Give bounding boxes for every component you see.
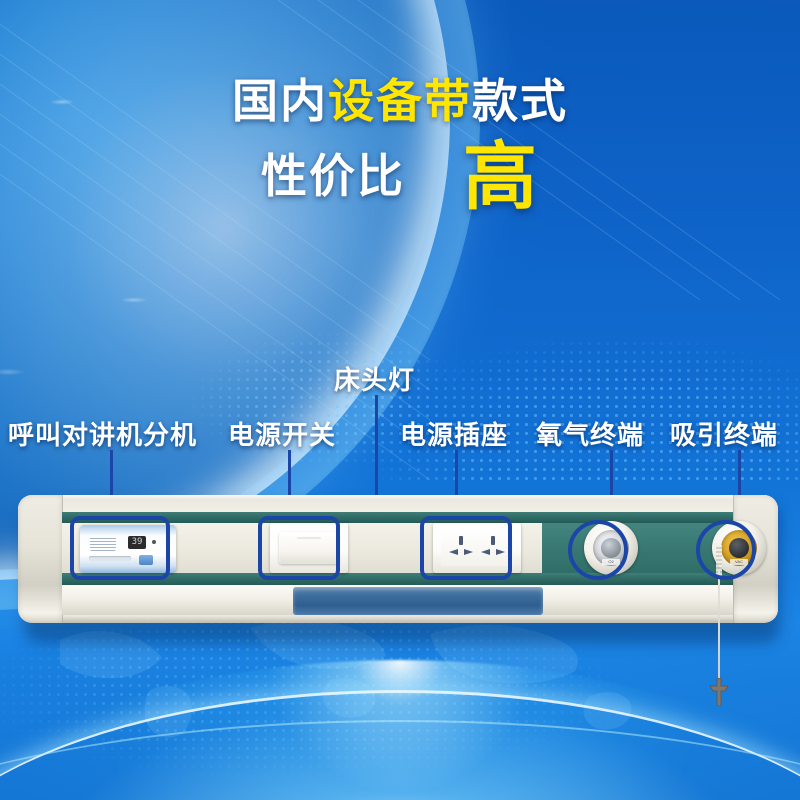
socket-pin-vertical-icon — [491, 536, 495, 545]
intercom-call-button[interactable] — [139, 555, 153, 565]
power-switch-plate[interactable] — [270, 523, 348, 573]
headline-line-2: 性价比高 — [0, 140, 800, 214]
horizon-arc-line — [0, 690, 800, 800]
power-switch-rocker[interactable] — [279, 532, 339, 564]
callout-label-bed-lamp: 床头灯 — [334, 360, 415, 397]
socket-pin-left-icon — [481, 549, 490, 555]
headline-highlight-word: 高 — [463, 135, 539, 218]
socket-outlet-left[interactable] — [446, 533, 476, 563]
headline-line1-segment-1: 国内 — [232, 75, 328, 127]
headline-block: 国内设备带款式 性价比高 — [0, 78, 800, 214]
intercom-card-slot — [89, 556, 131, 561]
callout-label-power-socket: 电源插座 — [400, 415, 508, 452]
socket-pin-right-icon — [496, 549, 505, 555]
suction-terminal-port[interactable] — [729, 538, 749, 558]
headline-line1-segment-2: 设备带 — [328, 75, 472, 127]
bed-lamp-lens — [293, 587, 543, 615]
intercom-indicator-led-icon — [152, 540, 156, 544]
oxygen-terminal-tag: O2 — [602, 559, 620, 565]
callout-label-suction: 吸引终端 — [670, 415, 778, 452]
callout-label-power-switch: 电源开关 — [228, 415, 336, 452]
promo-banner: 国内设备带款式 性价比高 呼叫对讲机分机 电源开关 床头灯 电源插座 氧气终端 … — [0, 0, 800, 800]
callout-label-intercom: 呼叫对讲机分机 — [8, 415, 197, 452]
horizon-arc-line-secondary — [0, 720, 800, 800]
headline-line2-segment-1: 性价比 — [261, 150, 405, 202]
headline-line1-segment-3: 款式 — [472, 75, 568, 127]
socket-pin-vertical-icon — [459, 536, 463, 545]
intercom-unit[interactable]: 39 — [80, 525, 176, 573]
intercom-speaker-grille-icon — [90, 537, 116, 551]
power-socket-face — [441, 530, 513, 566]
cord-plug-icon — [706, 678, 732, 706]
socket-outlet-right[interactable] — [478, 533, 508, 563]
headline-line-1: 国内设备带款式 — [0, 78, 800, 124]
horizon-glow — [0, 660, 800, 800]
pull-cord — [718, 570, 720, 685]
oxygen-terminal[interactable]: O2 — [584, 521, 638, 575]
callout-label-oxygen: 氧气终端 — [536, 415, 644, 452]
socket-pin-right-icon — [464, 549, 473, 555]
intercom-display: 39 — [128, 536, 146, 549]
oxygen-terminal-port[interactable] — [601, 538, 621, 558]
medical-bed-head-unit: 39 — [18, 495, 786, 645]
power-socket-plate[interactable] — [433, 523, 521, 573]
panel-end-cap-left — [18, 495, 63, 623]
suction-terminal-tag: VAC — [730, 559, 748, 565]
socket-pin-left-icon — [449, 549, 458, 555]
panel-body: 39 — [18, 495, 778, 623]
